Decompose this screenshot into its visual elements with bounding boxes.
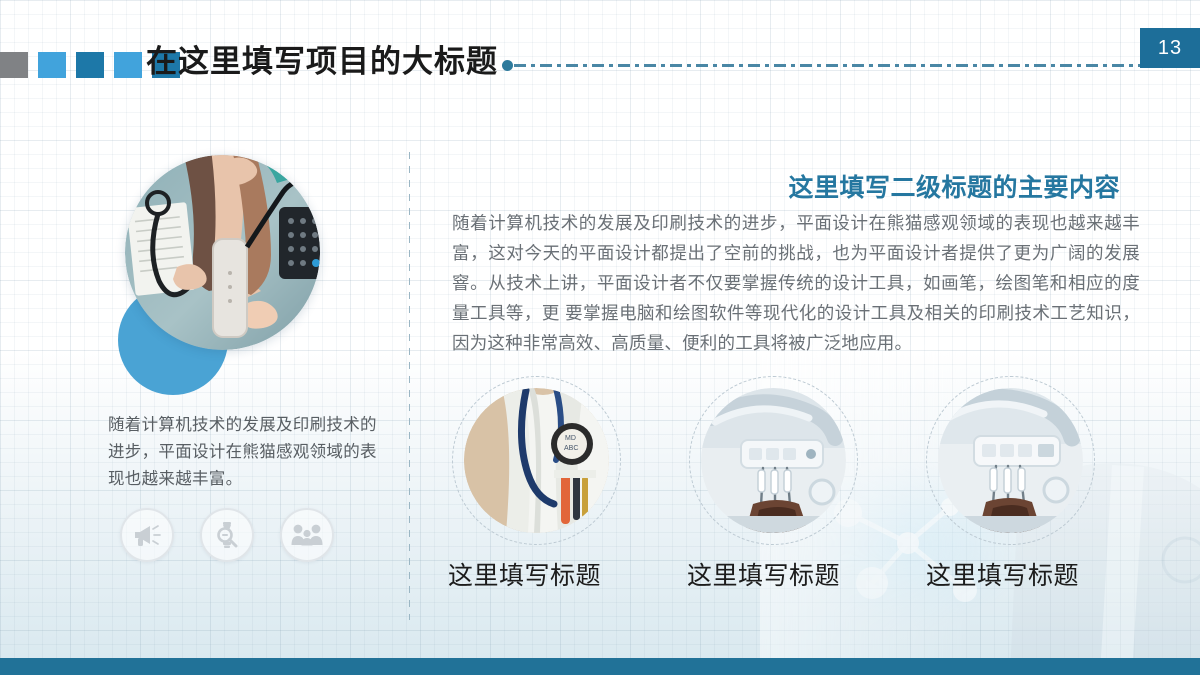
left-column: 随着计算机技术的发展及印刷技术的进步，平面设计在熊猫感观领域的表现也越来越丰富。 [0,0,409,675]
left-paragraph: 随着计算机技术的发展及印刷技术的进步，平面设计在熊猫感观领域的表现也越来越丰富。 [108,412,383,493]
thumb-equipment-1[interactable] [701,388,846,533]
megaphone-icon[interactable] [120,508,174,562]
thumb-caption-1: 这里填写标题 [448,556,601,592]
svg-text:MD: MD [565,435,576,442]
thumb-image: MDABC [464,388,609,533]
people-group-icon[interactable] [280,508,334,562]
hero-photo-medical[interactable] [125,155,320,350]
footer-bar [0,658,1200,675]
feature-icon-row [120,508,334,562]
thumb-image [938,388,1083,533]
thumb-caption-2: 这里填写标题 [687,556,840,592]
section-subtitle: 这里填写二级标题的主要内容 [788,168,1120,204]
thumb-doctor[interactable]: MDABC [464,388,609,533]
thumb-equipment-2[interactable] [938,388,1083,533]
slide-root: 在这里填写项目的大标题 13 [0,0,1200,675]
body-paragraph: 随着计算机技术的发展及印刷技术的进步，平面设计在熊猫感观领域的表现也越来越丰富，… [452,208,1140,358]
bulb-search-icon[interactable] [200,508,254,562]
svg-text:ABC: ABC [564,445,578,452]
column-divider [409,152,410,620]
right-column: 这里填写二级标题的主要内容 随着计算机技术的发展及印刷技术的进步，平面设计在熊猫… [430,0,1200,675]
thumb-caption-3: 这里填写标题 [926,556,1079,592]
thumb-image [701,388,846,533]
